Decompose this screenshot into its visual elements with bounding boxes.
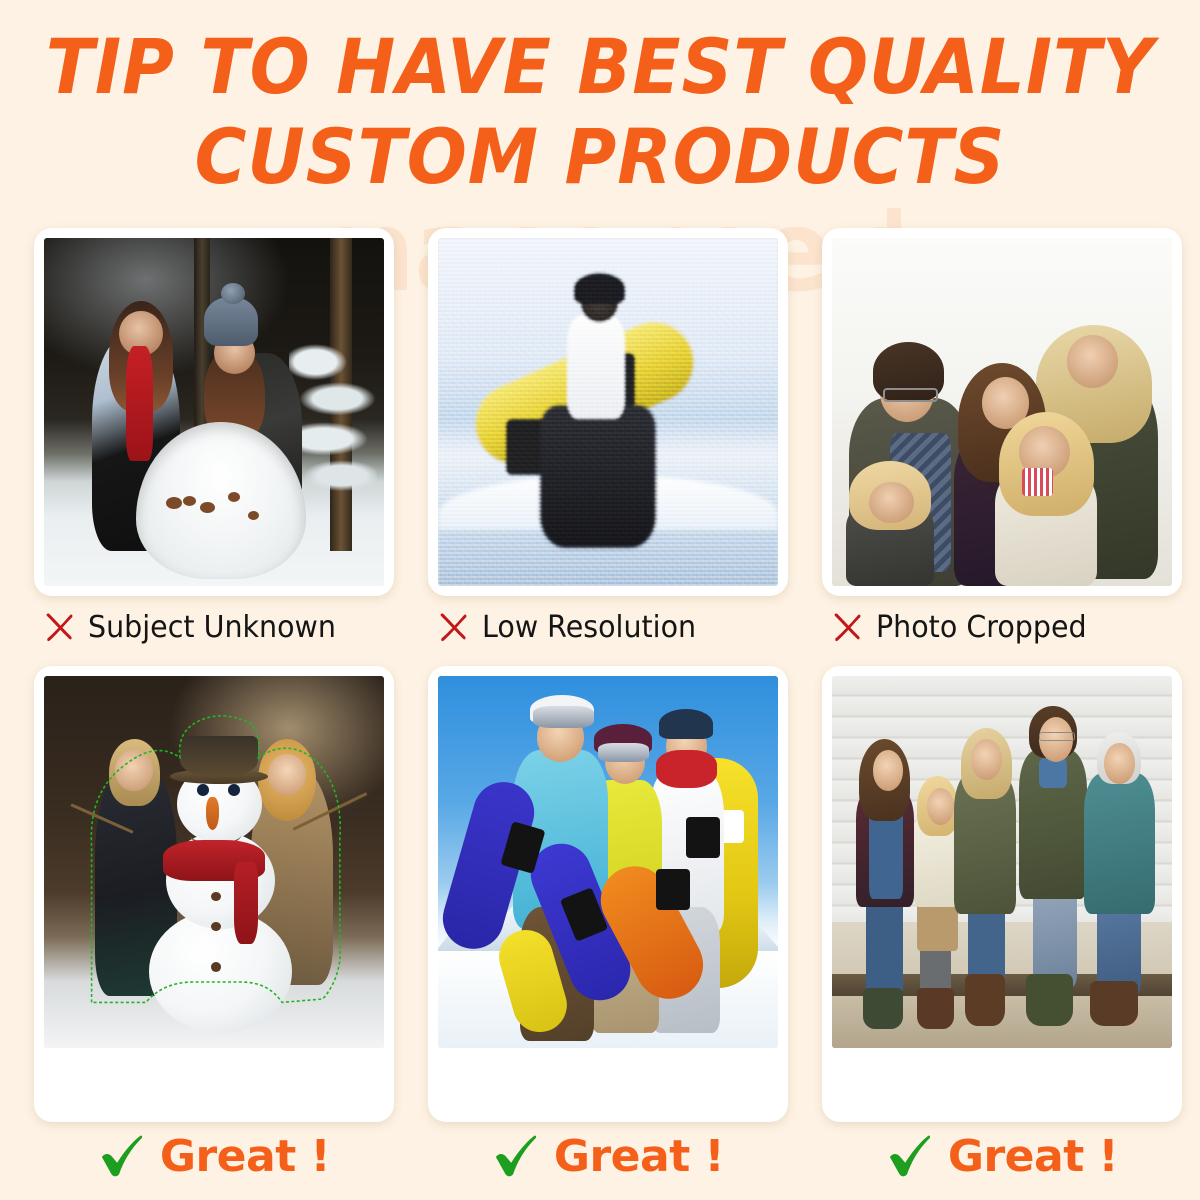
great-label: Great ! [428,1122,788,1190]
example-cell-great-snowman: Great ! [34,666,394,1190]
great-label-text: Great ! [160,1131,330,1182]
check-icon [492,1134,538,1178]
bad-label-text: Low Resolution [482,610,696,645]
good-examples-row: Great ! [34,666,1182,1190]
example-cell-photo-cropped: Photo Cropped [822,228,1182,658]
photo-card[interactable] [822,228,1182,596]
example-cell-low-resolution: Low Resolution [428,228,788,658]
bad-examples-row: Subject Unknown [34,228,1182,658]
photo-three-snowboarders [438,676,778,1048]
photo-card[interactable] [822,666,1182,1122]
bad-label: Low Resolution [428,596,788,658]
bad-label: Photo Cropped [822,596,1182,658]
example-cell-subject-unknown: Subject Unknown [34,228,394,658]
bad-label: Subject Unknown [34,596,394,658]
great-label: Great ! [34,1122,394,1190]
examples-grid: Subject Unknown [34,228,1182,1190]
photo-card[interactable] [428,228,788,596]
great-label: Great ! [822,1122,1182,1190]
photo-two-women-snowy-forest [44,238,384,586]
page-title: TIP TO HAVE BEST QUALITY CUSTOM PRODUCTS [0,22,1200,201]
great-label-text: Great ! [948,1131,1118,1182]
check-icon [886,1134,932,1178]
check-icon [98,1134,144,1178]
great-label-text: Great ! [554,1131,724,1182]
photo-card[interactable] [428,666,788,1122]
photo-pixelated-snowboarder [438,238,778,586]
bad-label-text: Photo Cropped [876,610,1087,645]
photo-card[interactable] [34,228,394,596]
example-cell-great-family: Great ! [822,666,1182,1190]
title-line-1: TIP TO HAVE BEST QUALITY [42,22,1158,112]
title-line-2: CUSTOM PRODUCTS [42,112,1158,202]
example-cell-great-snowboarders: Great ! [428,666,788,1190]
photo-card[interactable] [34,666,394,1122]
photo-family-barn-wall [832,676,1172,1048]
cross-icon [830,610,864,644]
cross-icon [42,610,76,644]
photo-family-cropped [832,238,1172,586]
photo-snowman-two-women-outlined [44,676,384,1048]
bad-label-text: Subject Unknown [88,610,336,645]
cross-icon [436,610,470,644]
